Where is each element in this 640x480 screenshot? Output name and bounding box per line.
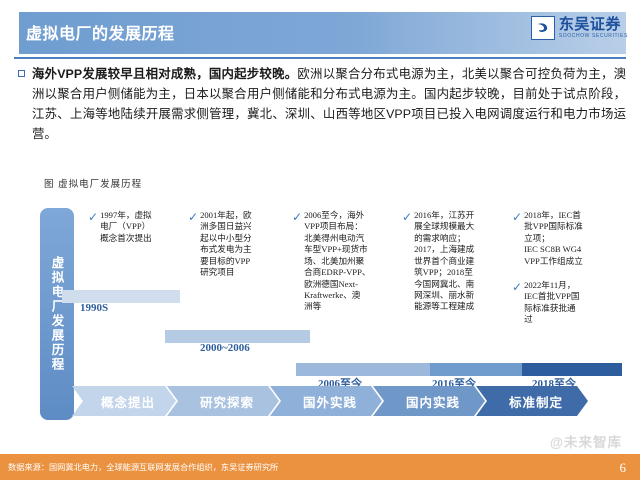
soochow-logo-icon <box>531 16 555 40</box>
header-left-accent <box>14 12 19 54</box>
figure-caption: 图 虚拟电厂发展历程 <box>44 176 142 190</box>
stage-chevron-standard[interactable]: 标准制定 <box>476 386 588 416</box>
timeline-diagram: 虚拟电厂发展历程 1990S 2000~2006 2006至今 2016至今 2… <box>0 190 640 440</box>
data-source-text: 数据来源：国网冀北电力，全球能源互联网发展合作组织，东吴证券研究所 <box>8 461 278 473</box>
page-title: 虚拟电厂的发展历程 <box>26 20 175 44</box>
timeline-item-text: 2022年11月， IEC首批VPP国 际标准获批通 过 <box>524 280 579 326</box>
check-icon: ✓ <box>512 280 522 295</box>
timeline-item-4: ✓ 2016年，江苏开 展全球规模最大 的需求响应； 2017，上海建成 世界首… <box>402 210 512 313</box>
step-label-2000-2006: 2000~2006 <box>200 342 250 354</box>
stage-chevron-concept[interactable]: 概念提出 <box>72 386 176 416</box>
timeline-item-1: ✓ 1997年，虚拟 电厂（VPP） 概念首次提出 <box>88 210 184 244</box>
timeline-item-2: ✓ 2001年起，欧 洲多国日益兴 起以中小型分 布式发电为主 要目标的VPP … <box>188 210 288 279</box>
stage-chevron-row: 概念提出 研究探索 国外实践 国内实践 标准制定 <box>72 386 579 416</box>
timeline-item-3: ✓ 2006至今，海外 VPP项目布局： 北美得州电动汽 车型VPP+现货市 场… <box>292 210 402 313</box>
timeline-item-text: 2001年起，欧 洲多国日益兴 起以中小型分 布式发电为主 要目标的VPP 研究… <box>200 210 252 279</box>
bullet-lead-bold: 海外VPP发展较早且相对成熟，国内起步较晚。 <box>32 67 297 81</box>
brand-logo: 东吴证券 SOOCHOW SECURITIES <box>531 16 628 40</box>
timeline-item-5: ✓ 2018年，IEC首 批VPP国际标准 立项； IEC SC8B WG4 V… <box>512 210 622 267</box>
check-icon: ✓ <box>292 210 302 225</box>
page-number: 6 <box>620 460 627 476</box>
timeline-item-text: 2016年，江苏开 展全球规模最大 的需求响应； 2017，上海建成 世界首个商… <box>414 210 474 313</box>
check-icon: ✓ <box>88 210 98 225</box>
header-divider <box>14 57 626 59</box>
watermark-text: @未来智库 <box>550 431 622 451</box>
check-icon: ✓ <box>512 210 522 225</box>
stage-chevron-overseas[interactable]: 国外实践 <box>270 386 382 416</box>
logo-text-en: SOOCHOW SECURITIES <box>559 34 628 39</box>
check-icon: ✓ <box>188 210 198 225</box>
bullet-square-icon <box>18 70 25 77</box>
check-icon: ✓ <box>402 210 412 225</box>
timeline-item-text: 2018年，IEC首 批VPP国际标准 立项； IEC SC8B WG4 VPP… <box>524 210 583 267</box>
step-label-1990s: 1990S <box>80 302 108 314</box>
stage-chevron-domestic[interactable]: 国内实践 <box>373 386 485 416</box>
timeline-item-6: ✓ 2022年11月， IEC首批VPP国 际标准获批通 过 <box>512 280 622 326</box>
stage-chevron-research[interactable]: 研究探索 <box>167 386 279 416</box>
bullet-text: 海外VPP发展较早且相对成熟，国内起步较晚。欧洲以聚合分布式电源为主，北美以聚合… <box>32 64 626 144</box>
diagram-vertical-title: 虚拟电厂发展历程 <box>40 208 74 420</box>
timeline-item-text: 2006至今，海外 VPP项目布局： 北美得州电动汽 车型VPP+现货市 场、北… <box>304 210 370 313</box>
bullet-paragraph: 海外VPP发展较早且相对成熟，国内起步较晚。欧洲以聚合分布式电源为主，北美以聚合… <box>18 64 626 144</box>
timeline-item-text: 1997年，虚拟 电厂（VPP） 概念首次提出 <box>100 210 152 244</box>
logo-text-cn: 东吴证券 <box>559 17 628 32</box>
